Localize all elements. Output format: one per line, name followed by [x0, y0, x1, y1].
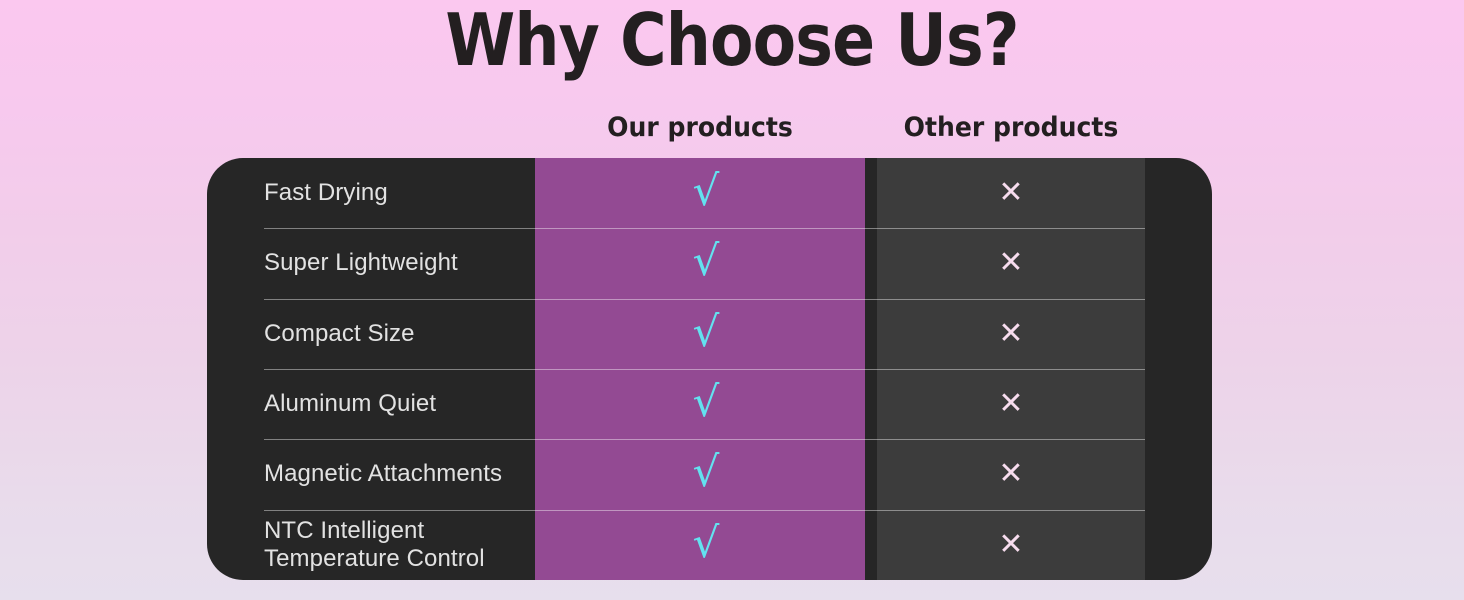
check-icon: √ — [693, 522, 720, 564]
check-icon: √ — [693, 451, 720, 493]
other-products-cell: ✕ — [877, 369, 1212, 439]
page-title: Why Choose Us? — [88, 0, 1376, 84]
cross-icon: ✕ — [998, 459, 1023, 489]
our-products-cell: √ — [535, 439, 877, 509]
cross-icon: ✕ — [998, 178, 1023, 208]
feature-label-line1: NTC Intelligent — [264, 517, 424, 544]
our-products-cell: √ — [535, 369, 877, 439]
comparison-infographic: Why Choose Us? Our products Other produc… — [0, 0, 1464, 600]
check-icon: √ — [693, 381, 720, 423]
table-row: Fast Drying√✕ — [207, 158, 1212, 228]
table-row: Aluminum Quiet√✕ — [207, 369, 1212, 439]
feature-label: Compact Size — [207, 320, 535, 348]
other-products-cell: ✕ — [877, 439, 1212, 509]
our-products-cell: √ — [535, 299, 877, 369]
check-icon: √ — [693, 240, 720, 282]
feature-label: Aluminum Quiet — [207, 390, 535, 418]
check-icon: √ — [693, 311, 720, 353]
feature-label-line1: Super Lightweight — [264, 249, 458, 276]
our-products-cell: √ — [535, 158, 877, 228]
our-products-cell: √ — [535, 510, 877, 580]
feature-label: Magnetic Attachments — [207, 460, 535, 488]
feature-label: Fast Drying — [207, 179, 535, 207]
feature-label-line1: Compact Size — [264, 320, 415, 347]
feature-label: Super Lightweight — [207, 249, 535, 277]
feature-label-line1: Magnetic Attachments — [264, 460, 502, 487]
feature-label-line2: Temperature Control — [264, 545, 535, 573]
cross-icon: ✕ — [998, 389, 1023, 419]
cross-icon: ✕ — [998, 248, 1023, 278]
check-icon: √ — [693, 170, 720, 212]
comparison-table: Fast Drying√✕Super Lightweight√✕Compact … — [207, 158, 1212, 580]
comparison-panel: Fast Drying√✕Super Lightweight√✕Compact … — [207, 158, 1212, 580]
feature-label-line1: Aluminum Quiet — [264, 390, 436, 417]
feature-label: NTC IntelligentTemperature Control — [207, 517, 535, 573]
column-header-other-products: Other products — [886, 110, 1135, 146]
other-products-cell: ✕ — [877, 228, 1212, 298]
column-header-our-products: Our products — [547, 110, 854, 146]
table-row: NTC IntelligentTemperature Control√✕ — [207, 510, 1212, 580]
other-products-cell: ✕ — [877, 299, 1212, 369]
our-products-cell: √ — [535, 228, 877, 298]
other-products-cell: ✕ — [877, 510, 1212, 580]
table-row: Compact Size√✕ — [207, 299, 1212, 369]
table-row: Super Lightweight√✕ — [207, 228, 1212, 298]
feature-label-line1: Fast Drying — [264, 179, 388, 206]
cross-icon: ✕ — [998, 319, 1023, 349]
cross-icon: ✕ — [998, 530, 1023, 560]
other-products-cell: ✕ — [877, 158, 1212, 228]
table-row: Magnetic Attachments√✕ — [207, 439, 1212, 509]
